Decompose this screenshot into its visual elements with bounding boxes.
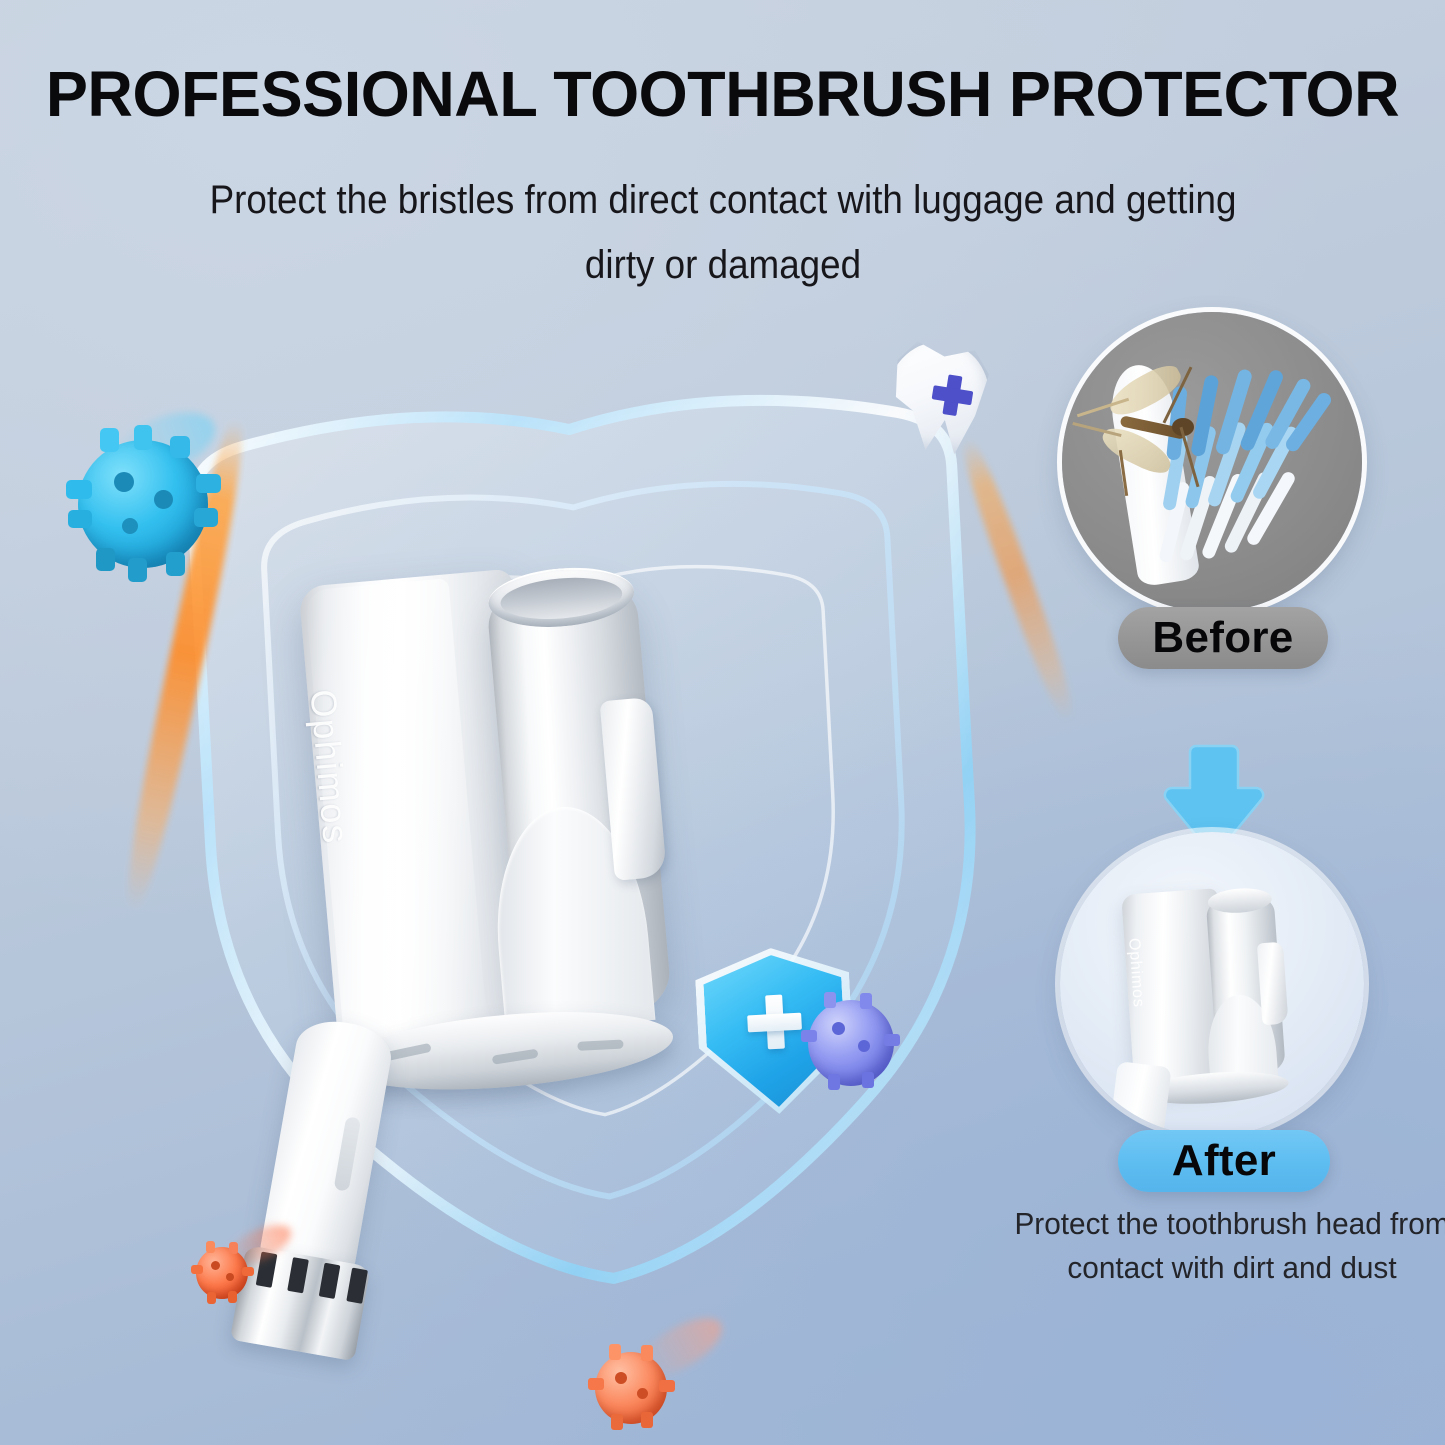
orange-germ-icon-left [196,1247,248,1299]
mosquito-icon [1076,360,1226,500]
before-label-text: Before [1152,613,1293,663]
brand-logo: Ophimos [301,688,356,846]
before-label-pill: Before [1118,607,1328,669]
page-subtitle: Protect the bristles from direct contact… [180,168,1266,298]
after-label-pill: After [1118,1130,1330,1192]
purple-germ-icon [808,1000,894,1086]
tooth-icon [878,336,998,459]
brand-logo-small: Ophimos [1124,938,1147,1009]
page-title: PROFESSIONAL TOOTHBRUSH PROTECTOR [11,62,1434,126]
blue-virus-icon [78,440,208,568]
after-label-text: After [1172,1136,1276,1186]
after-caption-text: Protect the toothbrush head from contact… [982,1202,1445,1290]
after-photo-circle: Ophimos [1060,832,1364,1136]
orange-germ-icon-bottom [595,1352,667,1424]
product-marketing-image: PROFESSIONAL TOOTHBRUSH PROTECTOR Protec… [0,0,1445,1445]
before-photo-circle [1062,312,1362,612]
